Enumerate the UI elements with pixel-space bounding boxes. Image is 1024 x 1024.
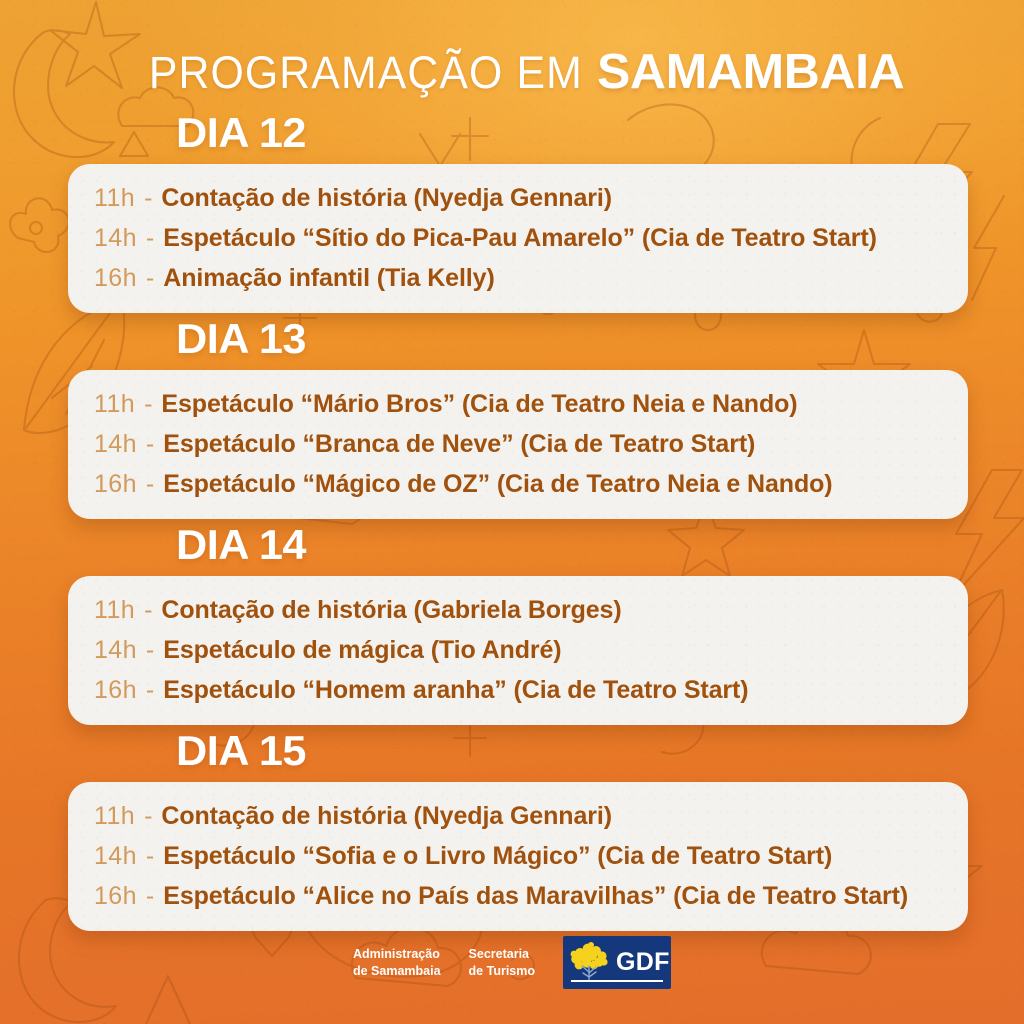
event-title: Espetáculo “Branca de Neve” (Cia de Teat… [163, 432, 755, 457]
event-title: Espetáculo “Sofia e o Livro Mágico” (Cia… [163, 844, 832, 869]
day-block-15: DIA 15 11h - Contação de história (Nyedj… [0, 730, 1024, 931]
event-time: 14h [94, 638, 137, 663]
schedule-card-15: 11h - Contação de história (Nyedja Genna… [68, 782, 968, 931]
day-block-13: DIA 13 11h - Espetáculo “Mário Bros” (Ci… [0, 318, 1024, 519]
event-time: 11h [94, 186, 135, 211]
event-dash: - [144, 186, 152, 211]
event-title: Espetáculo “Alice no País das Maravilhas… [163, 884, 908, 909]
event-row[interactable]: 14h - Espetáculo “Sofia e o Livro Mágico… [94, 844, 968, 869]
day-heading-12: DIA 12 [176, 112, 1024, 154]
event-title: Espetáculo “Sítio do Pica-Pau Amarelo” (… [163, 226, 877, 251]
gdf-underline [571, 980, 663, 982]
event-row[interactable]: 11h - Contação de história (Nyedja Genna… [94, 804, 968, 829]
schedule-card-12: 11h - Contação de história (Nyedja Genna… [68, 164, 968, 313]
footer-logos: Administração de Samambaia Secretaria de… [0, 936, 1024, 989]
event-row[interactable]: 14h - Espetáculo de mágica (Tio André) [94, 638, 968, 663]
title-light-part: PROGRAMAÇÃO EM [149, 47, 583, 99]
secretaria-line-2: de Turismo [469, 963, 535, 980]
administracao-line-2: de Samambaia [353, 963, 441, 980]
secretaria-line-1: Secretaria [469, 946, 535, 963]
event-title: Contação de história (Gabriela Borges) [161, 598, 621, 623]
event-row[interactable]: 14h - Espetáculo “Sítio do Pica-Pau Amar… [94, 226, 968, 251]
gdf-wordmark: GDF [616, 950, 670, 975]
event-time: 16h [94, 884, 137, 909]
event-time: 11h [94, 598, 135, 623]
event-time: 11h [94, 804, 135, 829]
administracao-samambaia-label: Administração de Samambaia [353, 946, 441, 980]
event-dash: - [146, 844, 154, 869]
page-title: PROGRAMAÇÃO EMSAMAMBAIA [0, 44, 1024, 100]
event-row[interactable]: 16h - Espetáculo “Alice no País das Mara… [94, 884, 968, 909]
schedule-card-14: 11h - Contação de história (Gabriela Bor… [68, 576, 968, 725]
event-dash: - [146, 266, 154, 291]
administracao-line-1: Administração [353, 946, 441, 963]
event-time: 16h [94, 678, 137, 703]
event-row[interactable]: 11h - Espetáculo “Mário Bros” (Cia de Te… [94, 392, 968, 417]
event-dash: - [144, 392, 152, 417]
event-title: Espetáculo “Homem aranha” (Cia de Teatro… [163, 678, 748, 703]
event-dash: - [146, 678, 154, 703]
event-title: Espetáculo de mágica (Tio André) [163, 638, 561, 663]
ipe-tree-icon [568, 942, 612, 984]
event-row[interactable]: 16h - Espetáculo “Mágico de OZ” (Cia de … [94, 472, 968, 497]
day-heading-13: DIA 13 [176, 318, 1024, 360]
event-title: Contação de história (Nyedja Gennari) [161, 804, 612, 829]
event-title: Espetáculo “Mágico de OZ” (Cia de Teatro… [163, 472, 832, 497]
event-time: 11h [94, 392, 135, 417]
event-time: 16h [94, 472, 137, 497]
poster-canvas: PROGRAMAÇÃO EMSAMAMBAIA DIA 12 11h - Con… [0, 0, 1024, 1024]
event-row[interactable]: 11h - Contação de história (Gabriela Bor… [94, 598, 968, 623]
event-row[interactable]: 16h - Animação infantil (Tia Kelly) [94, 266, 968, 291]
event-time: 14h [94, 226, 137, 251]
event-time: 16h [94, 266, 137, 291]
event-time: 14h [94, 844, 137, 869]
event-row[interactable]: 16h - Espetáculo “Homem aranha” (Cia de … [94, 678, 968, 703]
schedule-card-13: 11h - Espetáculo “Mário Bros” (Cia de Te… [68, 370, 968, 519]
event-time: 14h [94, 432, 137, 457]
event-dash: - [146, 884, 154, 909]
day-heading-15: DIA 15 [176, 730, 1024, 772]
event-dash: - [146, 638, 154, 663]
title-bold-part: SAMAMBAIA [597, 44, 904, 100]
day-heading-14: DIA 14 [176, 524, 1024, 566]
event-row[interactable]: 14h - Espetáculo “Branca de Neve” (Cia d… [94, 432, 968, 457]
event-dash: - [146, 432, 154, 457]
event-title: Espetáculo “Mário Bros” (Cia de Teatro N… [161, 392, 797, 417]
event-dash: - [146, 226, 154, 251]
event-title: Contação de história (Nyedja Gennari) [161, 186, 612, 211]
event-title: Animação infantil (Tia Kelly) [163, 266, 494, 291]
event-row[interactable]: 11h - Contação de história (Nyedja Genna… [94, 186, 968, 211]
event-dash: - [146, 472, 154, 497]
secretaria-turismo-label: Secretaria de Turismo [469, 946, 535, 980]
event-dash: - [144, 598, 152, 623]
event-dash: - [144, 804, 152, 829]
day-block-12: DIA 12 11h - Contação de história (Nyedj… [0, 112, 1024, 313]
gdf-logo: GDF [563, 936, 671, 989]
day-block-14: DIA 14 11h - Contação de história (Gabri… [0, 524, 1024, 725]
